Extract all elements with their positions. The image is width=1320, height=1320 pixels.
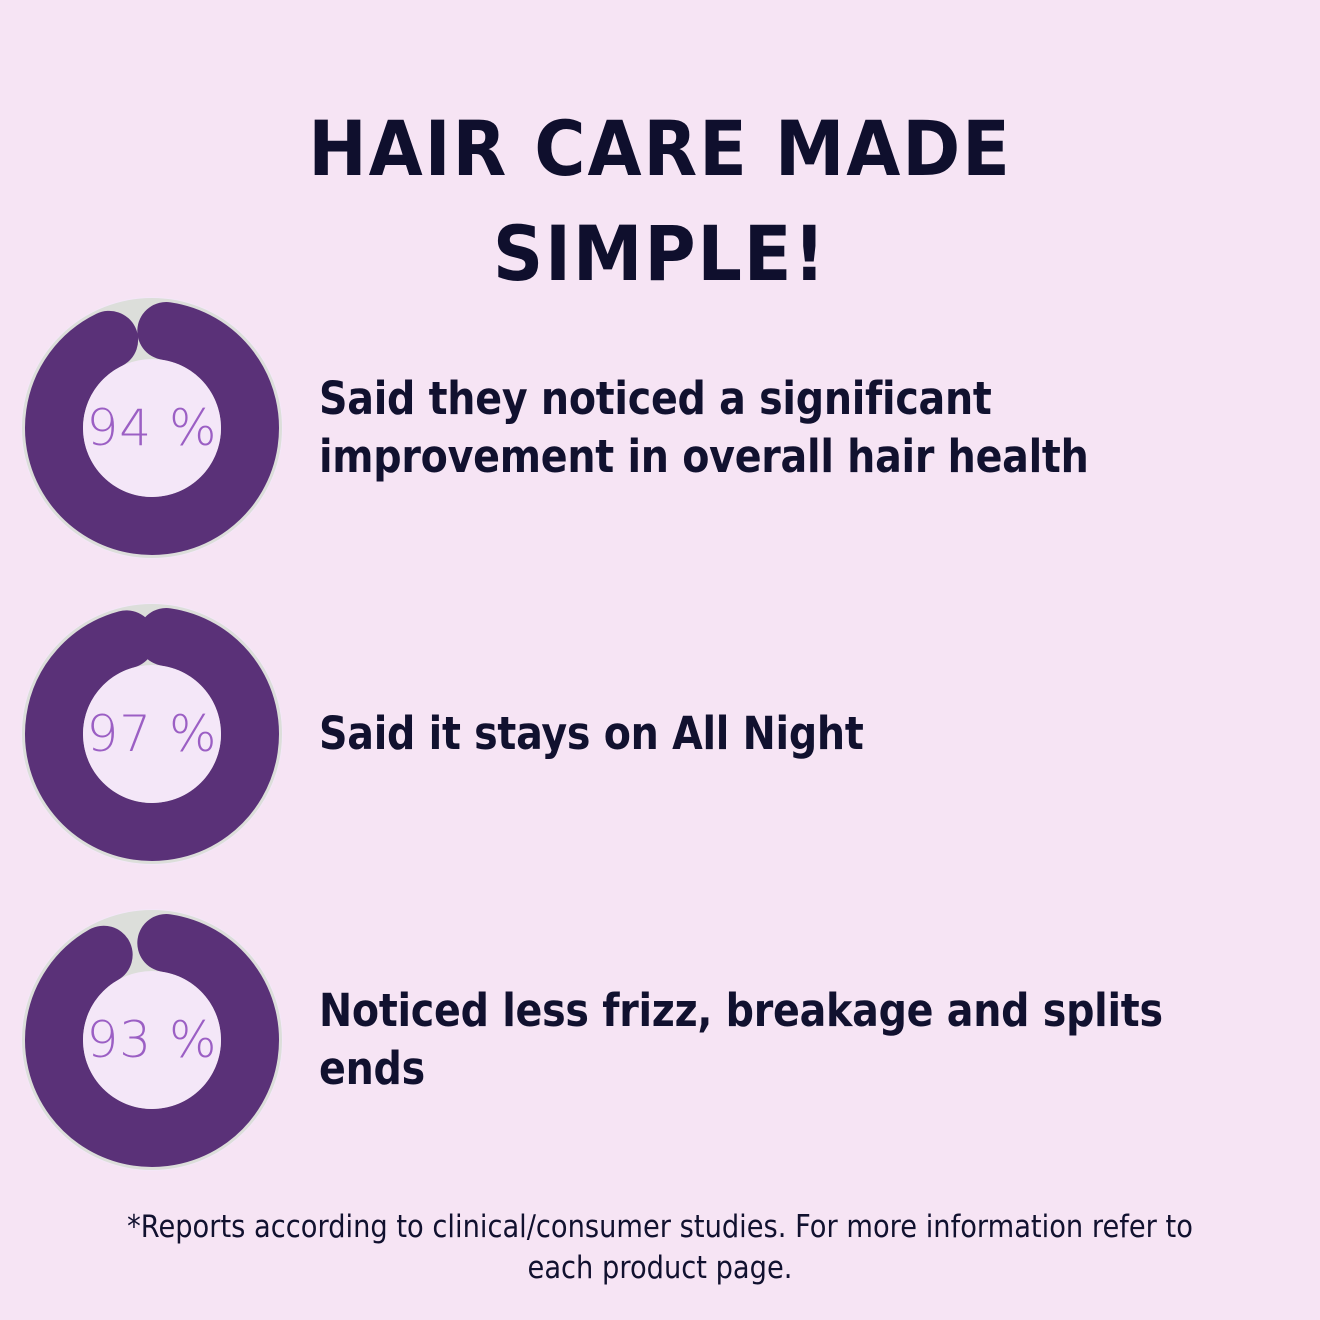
stat-list: 94 % Said they noticed a significant imp…: [0, 296, 1320, 1214]
donut-svg: [21, 297, 283, 559]
donut-svg: [21, 909, 283, 1171]
infographic-page: HAIR CARE MADE SIMPLE! 94 % Said they no…: [0, 0, 1320, 1320]
stat-description: Said it stays on All Night: [319, 705, 1174, 764]
stat-row: 93 % Noticed less frizz, breakage and sp…: [0, 908, 1320, 1172]
donut-hole: [83, 359, 221, 497]
stat-description: Said they noticed a significant improvem…: [319, 370, 1174, 487]
donut-hole: [83, 971, 221, 1109]
donut-chart-93: 93 %: [21, 909, 283, 1171]
stat-row: 94 % Said they noticed a significant imp…: [0, 296, 1320, 560]
footnote-text: *Reports according to clinical/consumer …: [123, 1207, 1197, 1290]
donut-chart-94: 94 %: [21, 297, 283, 559]
donut-chart-97: 97 %: [21, 603, 283, 865]
donut-hole: [83, 665, 221, 803]
donut-svg: [21, 603, 283, 865]
page-title: HAIR CARE MADE SIMPLE!: [53, 97, 1267, 307]
stat-row: 97 % Said it stays on All Night: [0, 602, 1320, 866]
stat-description: Noticed less frizz, breakage and splits …: [319, 982, 1174, 1099]
